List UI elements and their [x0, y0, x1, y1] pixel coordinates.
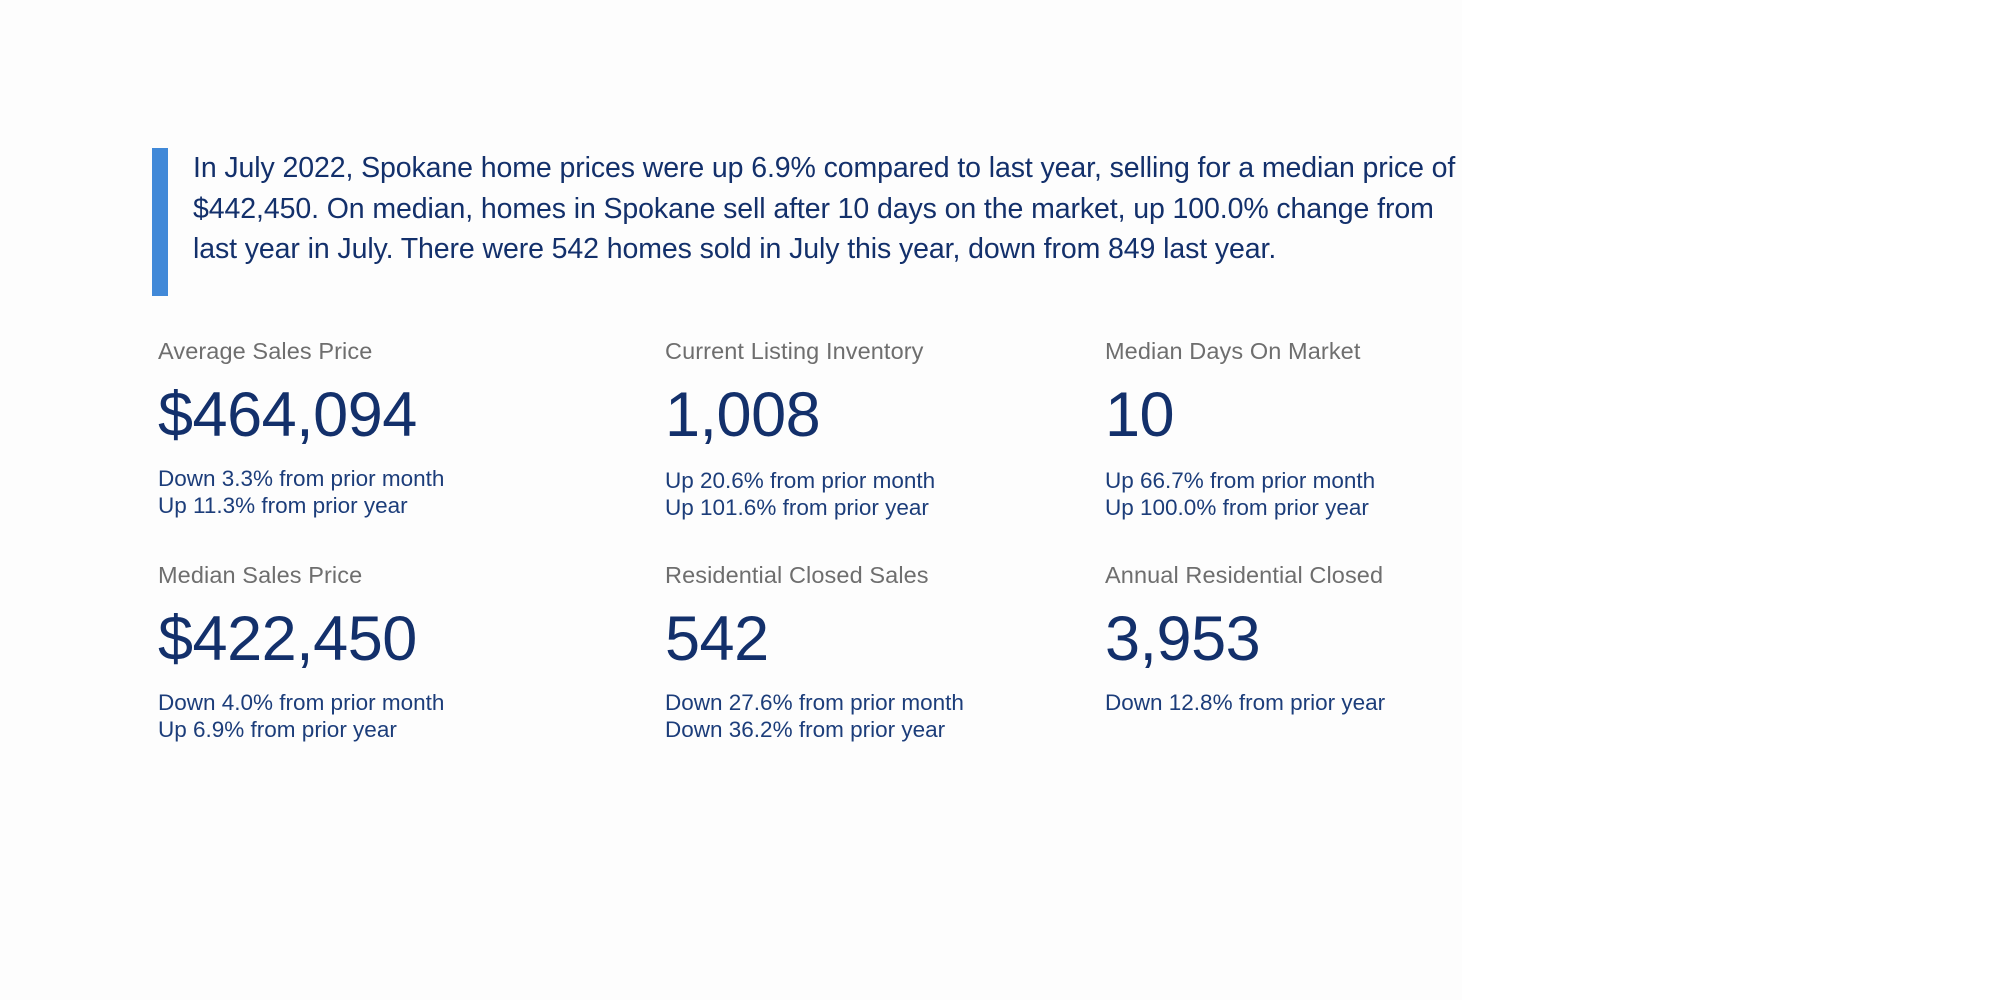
stat-note-year: Down 36.2% from prior year	[665, 716, 1285, 743]
stat-card-median-days-on-market: Median Days On Market 10 Up 66.7% from p…	[1105, 338, 1462, 521]
stat-value: 3,953	[1105, 588, 1462, 676]
stat-notes: Down 12.8% from prior year	[1105, 676, 1462, 716]
stats-row: Median Sales Price $422,450 Down 4.0% fr…	[158, 562, 1462, 786]
stat-notes: Up 66.7% from prior month Up 100.0% from…	[1105, 452, 1462, 521]
stat-value: 10	[1105, 364, 1462, 452]
stats-row: Average Sales Price $464,094 Down 3.3% f…	[158, 338, 1462, 562]
stat-label: Median Days On Market	[1105, 338, 1462, 364]
market-summary: In July 2022, Spokane home prices were u…	[152, 148, 1462, 270]
market-summary-text: In July 2022, Spokane home prices were u…	[152, 148, 1462, 270]
stat-note-month: Up 66.7% from prior month	[1105, 467, 1462, 494]
stat-note-year: Up 100.0% from prior year	[1105, 494, 1462, 521]
market-report-panel: In July 2022, Spokane home prices were u…	[0, 0, 1462, 1000]
stat-label: Annual Residential Closed	[1105, 562, 1462, 588]
stat-note-year: Down 12.8% from prior year	[1105, 689, 1462, 716]
stat-card-annual-residential-closed: Annual Residential Closed 3,953 Down 12.…	[1105, 562, 1462, 716]
accent-bar	[152, 148, 168, 296]
stats-grid: Average Sales Price $464,094 Down 3.3% f…	[158, 338, 1462, 786]
